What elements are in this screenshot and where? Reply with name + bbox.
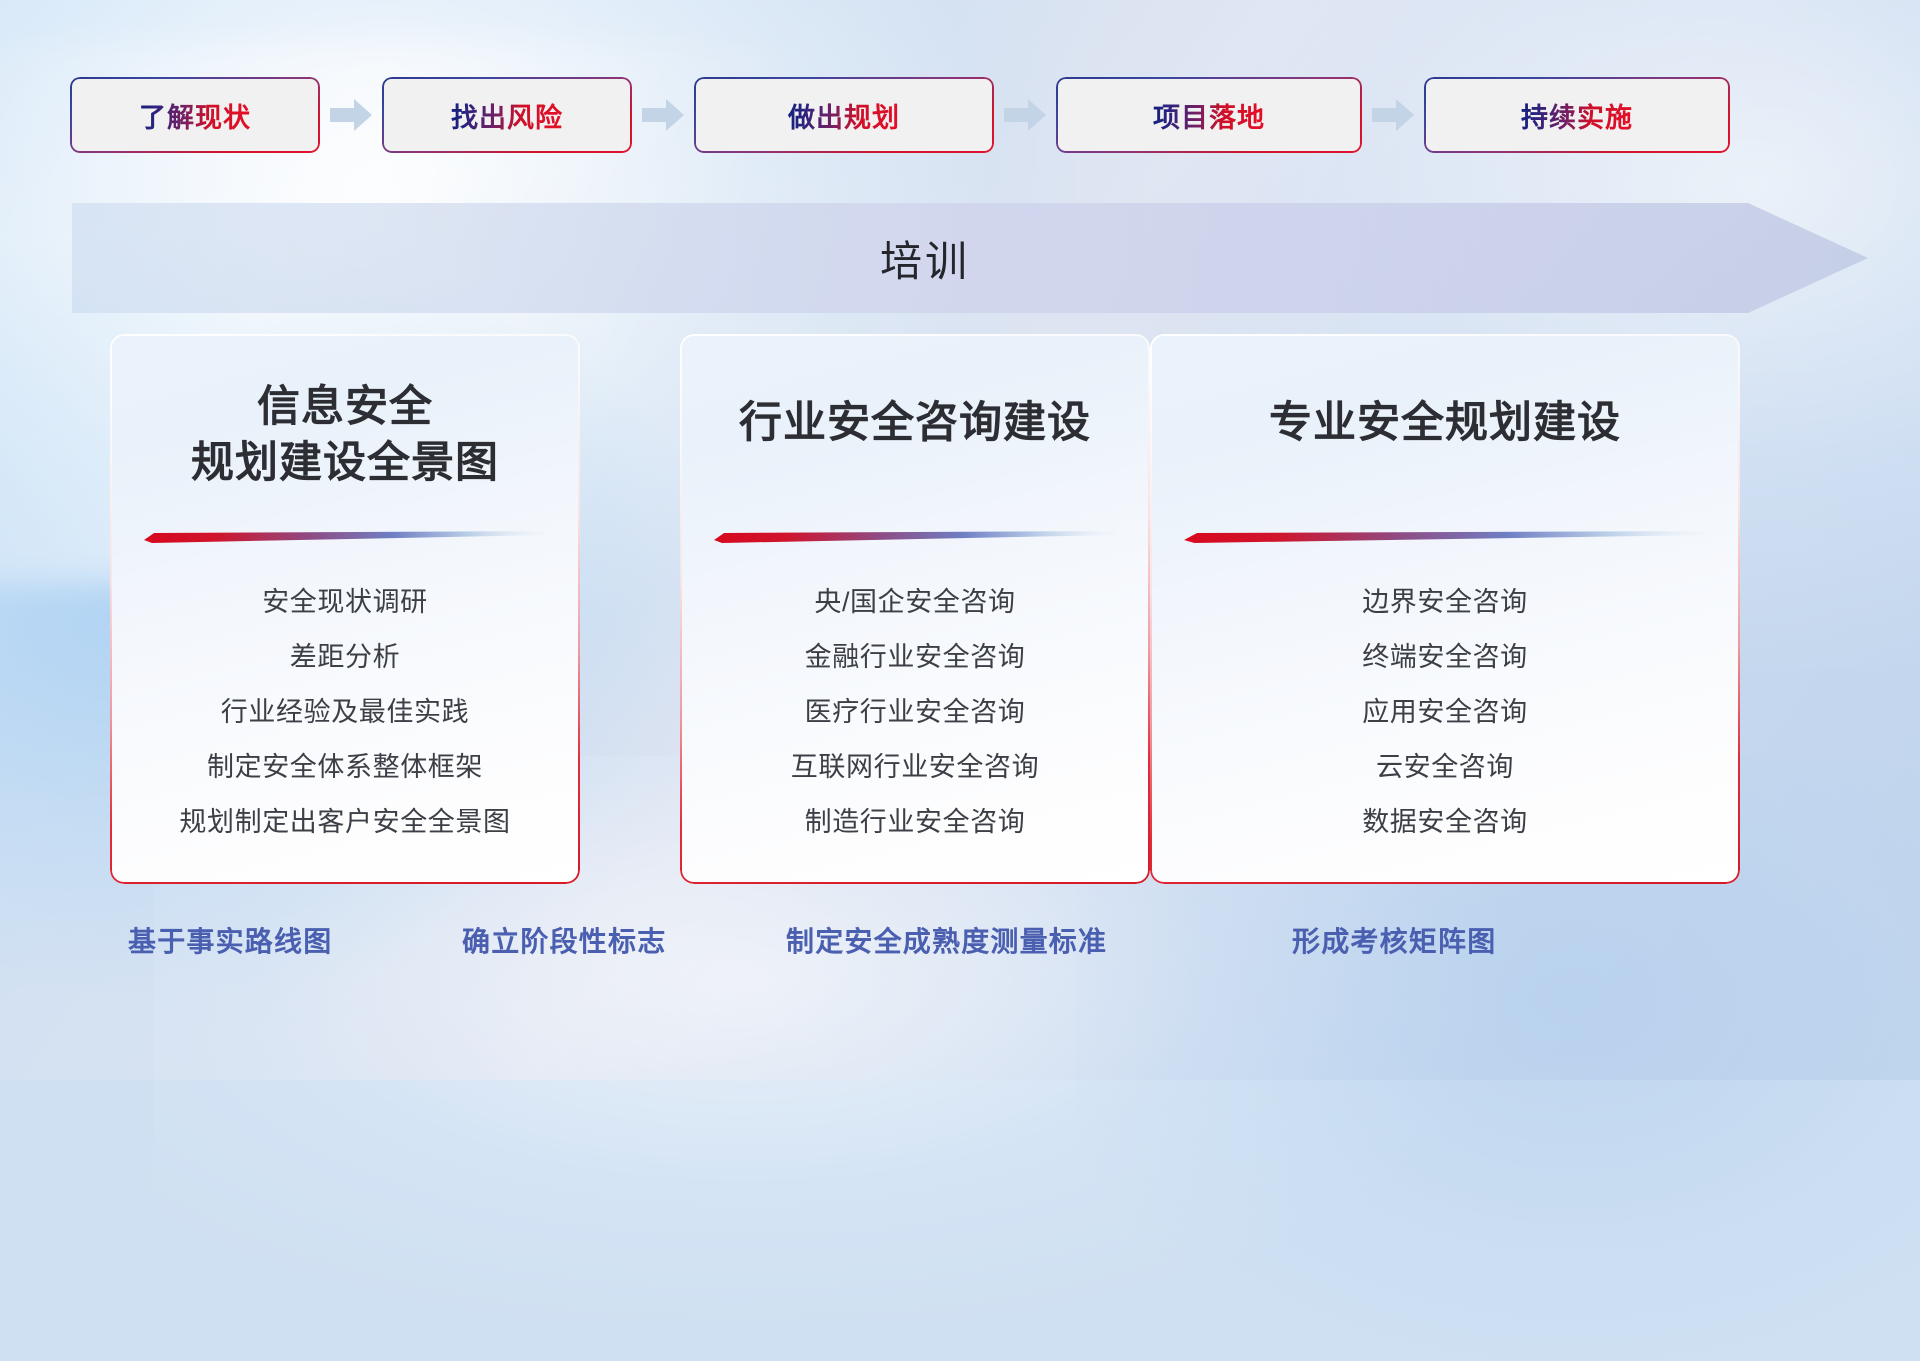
caption-1: 基于事实路线图 (128, 920, 332, 960)
caption-row: 基于事实路线图 确立阶段性标志 制定安全成熟度测量标准 形成考核矩阵图 (0, 920, 1920, 966)
list-item: 互联网行业安全咨询 (680, 754, 1150, 781)
list-item: 制造行业安全咨询 (680, 809, 1150, 836)
card-title: 行业安全咨询建设 (680, 396, 1150, 452)
list-item: 终端安全咨询 (1150, 644, 1740, 671)
card-title: 专业安全规划建设 (1150, 396, 1740, 452)
list-item: 边界安全咨询 (1150, 589, 1740, 616)
card-item-list: 安全现状调研 差距分析 行业经验及最佳实践 制定安全体系整体框架 规划制定出客户… (110, 589, 580, 836)
step-box-3[interactable]: 做出规划 (694, 77, 994, 153)
list-item: 金融行业安全咨询 (680, 644, 1150, 671)
list-item: 应用安全咨询 (1150, 699, 1740, 726)
card-title-line: 规划建设全景图 (110, 436, 580, 492)
step-box-1[interactable]: 了解现状 (70, 77, 320, 153)
card-professional-security-planning[interactable]: 专业安全规划建设 (1150, 334, 1740, 884)
card-title: 信息安全 规划建设全景图 (110, 380, 580, 492)
step-label-1: 了解现状 (139, 96, 251, 135)
card-title-line: 行业安全咨询建设 (680, 396, 1150, 452)
card-item-list: 边界安全咨询 终端安全咨询 应用安全咨询 云安全咨询 数据安全咨询 (1150, 589, 1740, 836)
list-item: 安全现状调研 (110, 589, 580, 616)
list-item: 制定安全体系整体框架 (110, 754, 580, 781)
caption-3: 制定安全成熟度测量标准 (786, 920, 1107, 960)
caption-2: 确立阶段性标志 (462, 920, 666, 960)
list-item: 数据安全咨询 (1150, 809, 1740, 836)
card-title-line: 专业安全规划建设 (1150, 396, 1740, 452)
card-industry-security-consulting[interactable]: 行业安全咨询建设 (680, 334, 1150, 884)
step-label-2: 找出风险 (451, 96, 563, 135)
list-item: 行业经验及最佳实践 (110, 699, 580, 726)
step-box-5[interactable]: 持续实施 (1424, 77, 1730, 153)
step-label-3: 做出规划 (788, 96, 900, 135)
card-item-list: 央/国企安全咨询 金融行业安全咨询 医疗行业安全咨询 互联网行业安全咨询 制造行… (680, 589, 1150, 836)
arrow-right-icon (1372, 98, 1414, 132)
card-title-line: 信息安全 (110, 380, 580, 436)
arrow-right-icon (1004, 98, 1046, 132)
step-box-4[interactable]: 项目落地 (1056, 77, 1362, 153)
caption-4: 形成考核矩阵图 (1292, 920, 1496, 960)
list-item: 医疗行业安全咨询 (680, 699, 1150, 726)
list-item: 规划制定出客户安全全景图 (110, 809, 580, 836)
gradient-divider-icon (714, 528, 1116, 544)
arrow-right-icon (642, 98, 684, 132)
card-information-security[interactable]: 信息安全 规划建设全景图 (110, 334, 580, 884)
step-label-4: 项目落地 (1153, 96, 1265, 135)
training-banner: 培训 (72, 203, 1868, 313)
list-item: 央/国企安全咨询 (680, 589, 1150, 616)
list-item: 云安全咨询 (1150, 754, 1740, 781)
gradient-divider-icon (144, 528, 546, 544)
gradient-divider-icon (1184, 528, 1706, 544)
step-label-5: 持续实施 (1521, 96, 1633, 135)
arrow-right-icon (330, 98, 372, 132)
card-group: 信息安全 规划建设全景图 (110, 334, 1810, 884)
banner-label: 培训 (72, 203, 1778, 313)
list-item: 差距分析 (110, 644, 580, 671)
step-box-2[interactable]: 找出风险 (382, 77, 632, 153)
process-step-flow: 了解现状 找出风险 做出规划 项目落地 (70, 76, 1850, 154)
